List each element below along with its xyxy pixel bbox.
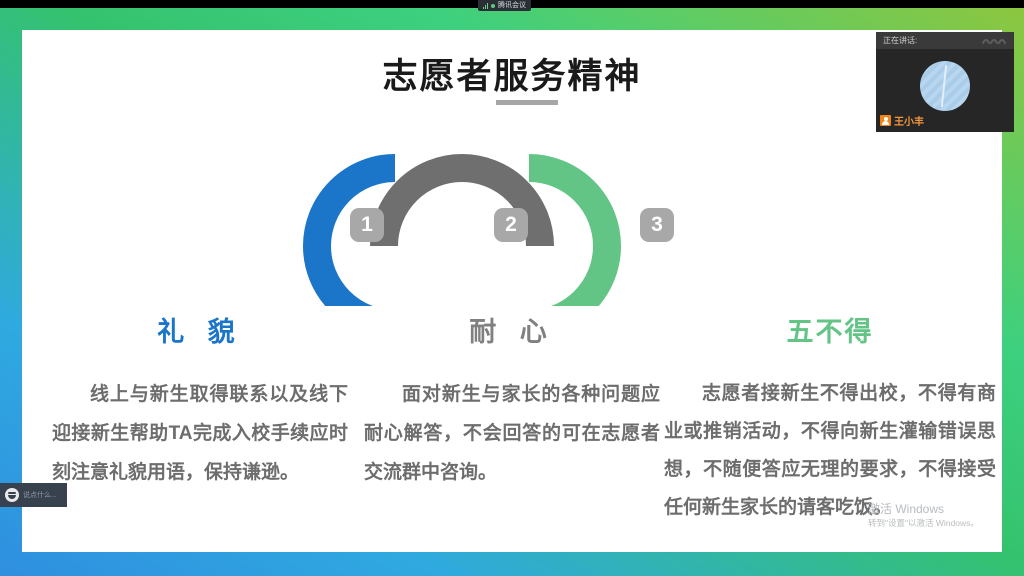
smiley-icon[interactable] [5, 488, 19, 502]
green-status-dot-icon [491, 4, 495, 8]
step-badge-1: 1 [350, 208, 384, 242]
screen-root: 志愿者服务精神 1 2 3 礼 貌 线上与新生取得联系以及线 [0, 0, 1024, 576]
chat-input-bar[interactable]: 说点什么... [0, 483, 67, 507]
meeting-app-label: 腾讯会议 [498, 0, 526, 11]
meeting-status-pill[interactable]: 腾讯会议 [478, 0, 531, 11]
video-stage: 王小丰 [876, 49, 1014, 132]
avatar [920, 61, 970, 111]
column-heading-2: 耐 心 [352, 310, 672, 349]
column-heading-1: 礼 貌 [40, 310, 360, 349]
column-body-1: 线上与新生取得联系以及线下迎接新生帮助TA完成入校手续应时刻注意礼貌用语，保持谦… [40, 375, 360, 492]
content-column-2: 耐 心 面对新生与家长的各种问题应耐心解答，不会回答的可在志愿者交流群中咨询。 [352, 310, 672, 492]
slide-canvas: 志愿者服务精神 1 2 3 礼 貌 线上与新生取得联系以及线 [22, 30, 1002, 552]
speaking-status-label: 正在讲话: [883, 36, 917, 45]
step-badge-3: 3 [640, 208, 674, 242]
watermark-subtitle: 转到"设置"以激活 Windows。 [868, 517, 979, 529]
windows-activation-watermark: 激活 Windows 转到"设置"以激活 Windows。 [868, 502, 979, 529]
chat-input-placeholder[interactable]: 说点什么... [23, 490, 57, 500]
watermark-title: 激活 Windows [868, 502, 979, 517]
column-body-2: 面对新生与家长的各种问题应耐心解答，不会回答的可在志愿者交流群中咨询。 [352, 375, 672, 492]
title-underline [496, 100, 558, 105]
speaker-video-panel[interactable]: 正在讲话: 王小丰 [876, 32, 1014, 132]
sound-wave-icon [981, 36, 1007, 45]
column-heading-3: 五不得 [660, 310, 1000, 349]
content-column-3: 五不得 志愿者接新生不得出校，不得有商业或推销活动，不得向新生灌输错误思想，不随… [660, 310, 1000, 527]
step-badge-2: 2 [494, 208, 528, 242]
slide-frame: 志愿者服务精神 1 2 3 礼 貌 线上与新生取得联系以及线 [0, 8, 1024, 576]
video-panel-header: 正在讲话: [876, 32, 1014, 49]
content-column-1: 礼 貌 线上与新生取得联系以及线下迎接新生帮助TA完成入校手续应时刻注意礼貌用语… [40, 310, 360, 492]
page-title: 志愿者服务精神 [22, 48, 1002, 99]
person-icon [880, 115, 891, 126]
signal-bars-icon [483, 3, 488, 9]
participant-name: 王小丰 [894, 113, 924, 128]
participant-name-badge: 王小丰 [880, 113, 924, 128]
